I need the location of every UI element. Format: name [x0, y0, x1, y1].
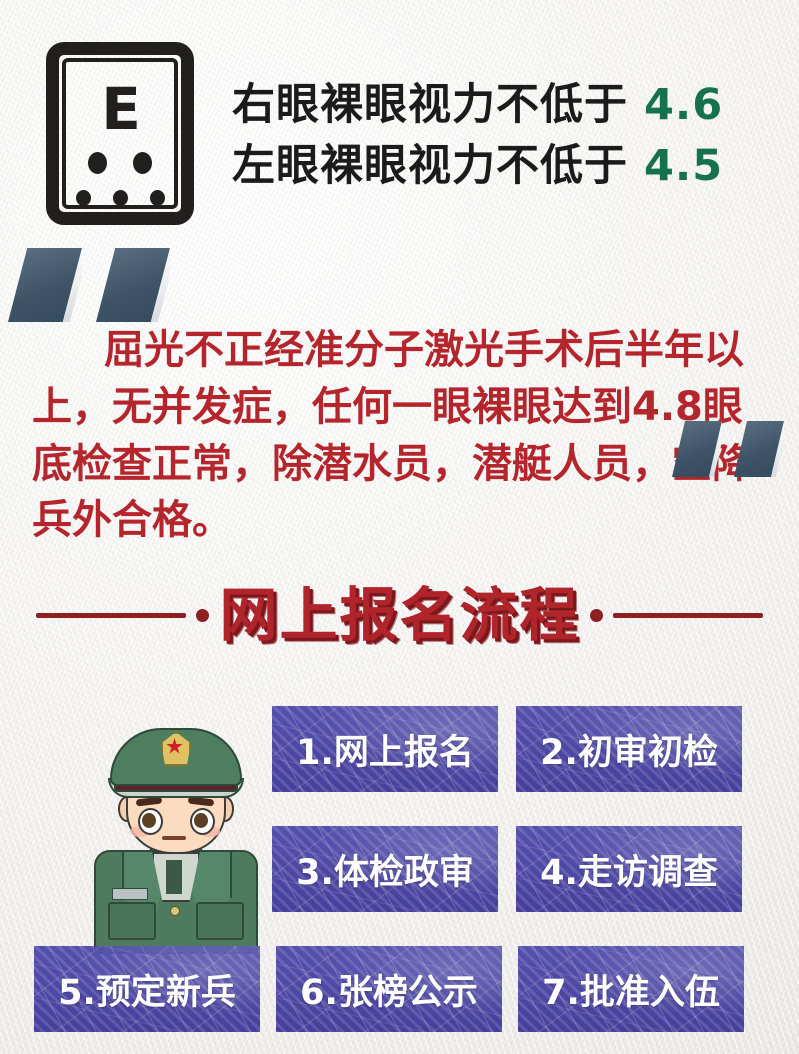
- soldier-pupil-right: [194, 813, 208, 828]
- eye-chart-dot: [76, 190, 91, 206]
- eye-chart-dot-row-upper: [66, 152, 174, 174]
- quote-paragraph-section: 屈光不正经准分子激光手术后半年以上，无并发症，任何一眼裸眼达到4.8眼底检查正常…: [0, 236, 799, 526]
- quote-slab: [8, 248, 82, 322]
- soldier-ribbon-bar: [112, 888, 148, 900]
- flow-step-7[interactable]: 7.批准入伍: [518, 946, 744, 1032]
- vision-label-right-eye: 右眼裸眼视力不低于: [232, 80, 628, 130]
- flow-step-4[interactable]: 4.走访调查: [516, 826, 742, 912]
- flow-step-5[interactable]: 5.预定新兵: [34, 946, 260, 1032]
- flow-step-6[interactable]: 6.张榜公示: [276, 946, 502, 1032]
- flow-step-2[interactable]: 2.初审初检: [516, 706, 742, 792]
- vision-requirements-section: E 右眼裸眼视力不低于 4.6 左眼裸眼视力不低于 4.5: [0, 0, 799, 236]
- vision-line-right-eye: 右眼裸眼视力不低于 4.6: [232, 70, 723, 132]
- eye-chart-dot: [113, 190, 128, 206]
- soldier-pupil-left: [142, 813, 156, 828]
- quote-slab: [672, 421, 722, 477]
- eye-chart-icon: E: [46, 42, 194, 225]
- eye-chart-letter-e: E: [101, 80, 139, 138]
- soldier-mouth: [162, 836, 186, 840]
- quote-slab: [96, 248, 170, 322]
- page-title: 网上报名流程: [219, 586, 579, 644]
- quote-paragraph-text: 屈光不正经准分子激光手术后半年以上，无并发症，任何一眼裸眼达到4.8眼底检查正常…: [32, 322, 772, 549]
- soldier-avatar-icon: [78, 710, 268, 946]
- quote-open-icon: [8, 248, 170, 322]
- title-dot-right: [590, 609, 603, 622]
- quote-slab: [734, 421, 784, 477]
- soldier-button: [170, 906, 180, 916]
- title-rule-left: [36, 613, 186, 618]
- eye-chart-dot: [133, 152, 152, 174]
- vision-value-right-eye: 4.6: [644, 80, 723, 130]
- flow-steps-section: 1.网上报名 2.初审初检 3.体检政审 4.走访调查 5.预定新兵 6.张榜公…: [0, 674, 799, 1054]
- eye-chart-inner-frame: E: [62, 58, 178, 209]
- flow-title-bar: 网上报名流程: [0, 556, 799, 674]
- title-rule-right: [613, 613, 763, 618]
- vision-value-left-eye: 4.5: [644, 141, 723, 191]
- eye-chart-dot-row-lower: [66, 190, 174, 206]
- flow-step-1[interactable]: 1.网上报名: [272, 706, 498, 792]
- vision-label-left-eye: 左眼裸眼视力不低于: [232, 141, 628, 191]
- eye-chart-dot: [88, 152, 107, 174]
- quote-close-icon: [672, 421, 784, 477]
- eye-chart-dot: [150, 190, 165, 206]
- soldier-pocket-left: [108, 902, 156, 940]
- vision-line-left-eye: 左眼裸眼视力不低于 4.5: [232, 131, 723, 193]
- soldier-pocket-right: [196, 902, 244, 940]
- title-dot-left: [196, 609, 209, 622]
- soldier-necktie: [166, 860, 182, 894]
- flow-step-3[interactable]: 3.体检政审: [272, 826, 498, 912]
